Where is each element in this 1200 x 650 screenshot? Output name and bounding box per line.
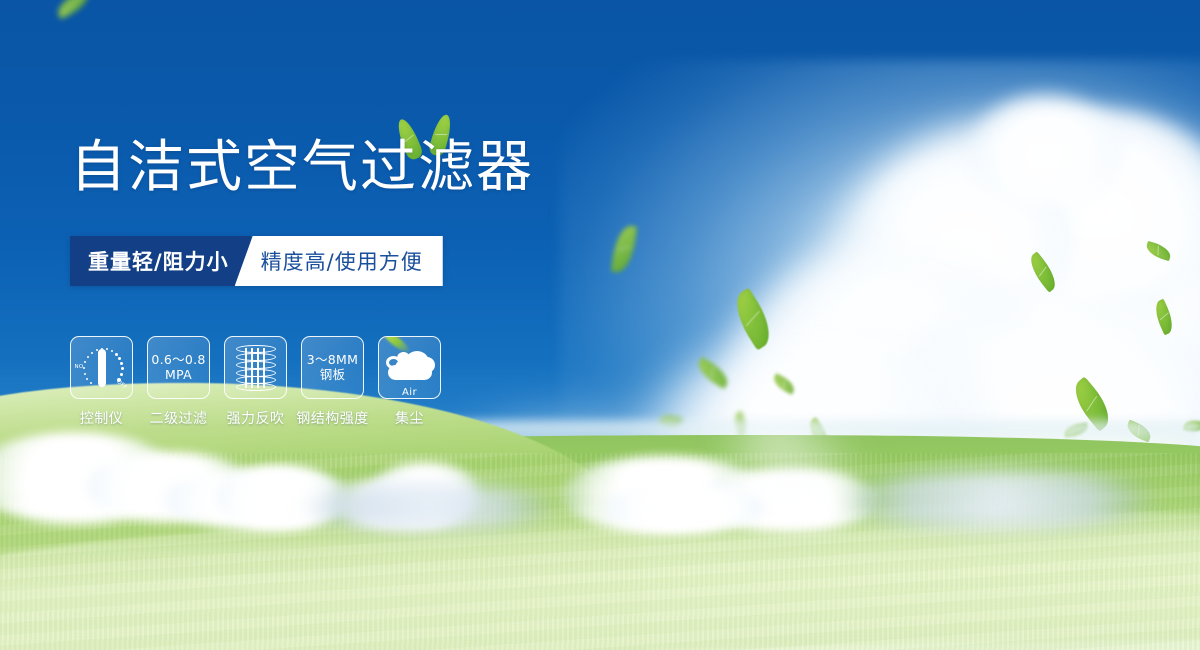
horizon-cloud: [85, 452, 255, 522]
wispy-cloud: [430, 420, 730, 560]
leaf-icon: [1024, 251, 1061, 292]
cumulus-cloud-lobe: [730, 250, 1030, 480]
leaf-icon: [1066, 376, 1118, 431]
leaf-icon: [664, 477, 683, 496]
leaf-icon: [771, 373, 798, 395]
sky-haze: [560, 60, 1200, 580]
feature-label: 控制仪: [70, 408, 133, 428]
leaf-icon: [727, 288, 780, 351]
grass-hill-back: [0, 435, 1200, 650]
feature-item-blowback[interactable]: 强力反吹: [224, 336, 287, 428]
feature-icon-box[interactable]: NO OFF: [70, 336, 133, 399]
air-label: Air: [381, 387, 439, 398]
leaf-icon: [611, 224, 637, 274]
horizon-cloud: [840, 470, 1160, 530]
gauge-label-on: NO: [75, 364, 84, 370]
leaf-icon: [1063, 422, 1088, 437]
feature-list: NO OFF 控制仪 0.6～0.8 MPA 二级过滤: [70, 336, 441, 428]
leaf-icon: [1151, 299, 1178, 336]
horizon-cloud: [160, 470, 360, 530]
feature-icon-box[interactable]: 3～8MM 钢板: [301, 336, 364, 399]
pressure-text-icon: 0.6～0.8 MPA: [151, 353, 205, 383]
gauge-dial-icon: NO OFF: [74, 340, 130, 396]
leaf-icon: [53, 0, 92, 20]
grass-path: [0, 494, 1200, 650]
leaf-icon: [1124, 420, 1153, 443]
filter-coil-icon: [236, 345, 276, 391]
wispy-cloud: [620, 370, 950, 540]
horizon-cloud: [330, 478, 480, 530]
cumulus-cloud-lobe: [880, 300, 1200, 550]
feature-item-secondary-filter[interactable]: 0.6～0.8 MPA 二级过滤: [147, 336, 210, 428]
gauge-label-off: OFF: [116, 379, 128, 391]
leaf-icon: [731, 411, 750, 437]
horizon-cloud: [0, 432, 180, 524]
feature-label: 强力反吹: [224, 408, 287, 428]
cumulus-cloud-lobe: [970, 95, 1120, 205]
cumulus-cloud-lobe: [860, 160, 1070, 320]
product-banner: 自洁式空气过滤器 重量轻/阻力小 精度高/使用方便: [0, 0, 1200, 650]
small-sky-cloud: [730, 425, 820, 465]
leaf-icon: [804, 417, 834, 451]
cumulus-cloud-lobe: [660, 330, 980, 540]
horizon-cloud: [300, 484, 560, 530]
subtitle-bar: 重量轻/阻力小 精度高/使用方便: [70, 236, 443, 286]
horizon-cloud: [560, 456, 770, 534]
feature-item-dust-collection[interactable]: Air 集尘: [378, 336, 441, 428]
leaf-icon: [1183, 418, 1200, 434]
grass-field: [0, 435, 1200, 650]
subtitle-left: 重量轻/阻力小: [70, 236, 251, 286]
leaf-icon: [1144, 241, 1173, 261]
horizon-cloud: [370, 462, 480, 522]
horizon-cloud: [215, 465, 345, 529]
cumulus-cloud-lobe: [840, 130, 1170, 380]
air-cloud-icon: Air: [381, 339, 439, 397]
leaf-icon: [693, 357, 732, 390]
subtitle-right: 精度高/使用方便: [235, 236, 443, 286]
page-title: 自洁式空气过滤器: [70, 140, 534, 196]
feature-label: 二级过滤: [147, 408, 210, 428]
grass-texture: [0, 453, 1200, 650]
feature-icon-box[interactable]: [224, 336, 287, 399]
feature-label: 集尘: [378, 408, 441, 428]
horizon-cloud: [600, 486, 770, 530]
leaf-icon: [659, 412, 684, 430]
feature-label: 钢结构强度: [289, 408, 376, 428]
feature-icon-box[interactable]: 0.6～0.8 MPA: [147, 336, 210, 399]
feature-item-steel-structure[interactable]: 3～8MM 钢板 钢结构强度: [301, 336, 364, 428]
feature-item-controller[interactable]: NO OFF 控制仪: [70, 336, 133, 428]
gauge-needle: [98, 349, 106, 387]
cumulus-cloud-mass: [800, 120, 1200, 500]
small-sky-cloud: [778, 455, 848, 485]
feature-icon-box[interactable]: Air: [378, 336, 441, 399]
horizon-cloud: [700, 468, 880, 532]
steel-plate-text-icon: 3～8MM 钢板: [307, 353, 358, 383]
cumulus-cloud-lobe: [970, 110, 1200, 300]
